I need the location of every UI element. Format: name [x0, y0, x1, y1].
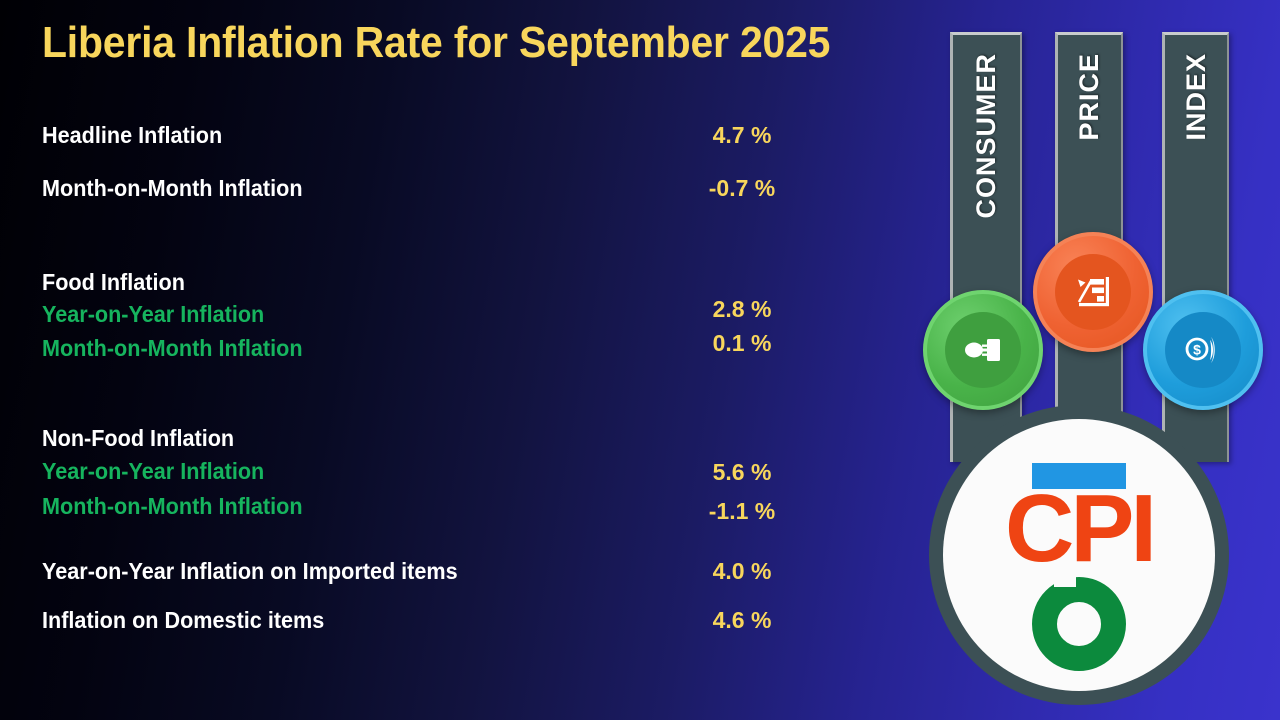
inflation-row-value-wrap: 4.6 % [42, 603, 842, 637]
cpi-logo-green-ring-notch [1054, 571, 1076, 587]
badge-money: $ [1143, 290, 1263, 410]
inflation-row-value: -1.1 % [642, 494, 842, 528]
inflation-row-value-wrap: 5.6 % [42, 455, 842, 489]
inflation-row-value: 0.1 % [642, 326, 842, 360]
inflation-row-value-wrap: -1.1 % [42, 494, 842, 528]
svg-text:$: $ [1193, 342, 1201, 358]
inflation-row-value: 2.8 % [642, 292, 842, 326]
inflation-row-value-wrap: 0.1 % [42, 326, 842, 360]
inflation-row-value-wrap: 4.0 % [42, 554, 842, 588]
inflation-row-value: 4.0 % [642, 554, 842, 588]
page-title: Liberia Inflation Rate for September 202… [42, 18, 830, 68]
inflation-row-value-wrap: -0.7 % [42, 171, 842, 205]
pillar-consumer-text-wrap: CONSUMER [953, 53, 1020, 313]
pillar-consumer-label: CONSUMER [971, 53, 1002, 219]
bar-chart-growth-icon [1070, 269, 1116, 315]
cpi-logo-green-ring [1032, 577, 1126, 671]
inflation-row-value: 5.6 % [642, 455, 842, 489]
pillar-index-text-wrap: INDEX [1165, 53, 1227, 313]
inflation-row: Non-Food Inflation [42, 421, 842, 455]
badge-price-index-inner [1055, 254, 1131, 330]
badge-food-inner [945, 312, 1021, 388]
inflation-row-value-wrap: 2.8 % [42, 292, 842, 326]
badge-price-index [1033, 232, 1153, 352]
pillar-price-label: PRICE [1074, 53, 1105, 141]
inflation-row-value: -0.7 % [642, 171, 842, 205]
pillar-index-label: INDEX [1181, 53, 1212, 141]
infographic-canvas: Liberia Inflation Rate for September 202… [0, 0, 1280, 720]
inflation-row-value: 4.7 % [642, 118, 842, 152]
badge-money-inner: $ [1165, 312, 1241, 388]
inflation-row-value: 4.6 % [642, 603, 842, 637]
badge-food [923, 290, 1043, 410]
hand-holding-money-icon: $ [1180, 327, 1226, 373]
cutlery-icon [961, 328, 1005, 372]
inflation-row-value-wrap: 4.7 % [42, 118, 842, 152]
cpi-logo-circle: CPI [943, 419, 1215, 691]
inflation-row-label: Non-Food Inflation [42, 421, 234, 455]
cpi-graphic: CONSUMER PRICE INDEX [915, 0, 1280, 720]
cpi-logo-text: CPI [1005, 481, 1153, 577]
